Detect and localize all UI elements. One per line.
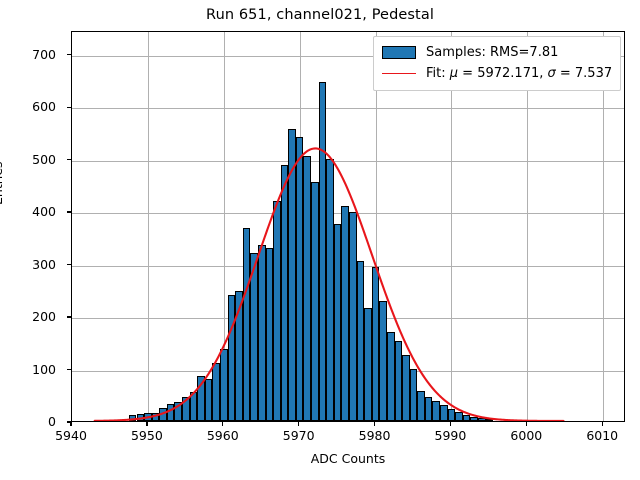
- legend-item-fit: Fit: μ = 5972.171, σ = 7.537: [382, 63, 612, 84]
- y-tick-label: 100: [0, 362, 56, 377]
- x-tick-mark: [526, 422, 527, 426]
- legend-fit-mu-symbol: μ: [450, 66, 458, 81]
- y-tick-label: 600: [0, 99, 56, 114]
- x-tick-mark: [70, 422, 71, 426]
- x-tick-mark: [374, 422, 375, 426]
- y-tick-label: 200: [0, 309, 56, 324]
- y-tick-label: 300: [0, 257, 56, 272]
- y-tick-label: 400: [0, 204, 56, 219]
- legend-fit-sigma-symbol: σ: [548, 66, 556, 81]
- x-tick-mark: [602, 422, 603, 426]
- x-tick-label: 6000: [491, 428, 561, 443]
- x-tick-label: 5940: [36, 428, 106, 443]
- x-tick-mark: [146, 422, 147, 426]
- x-tick-mark: [298, 422, 299, 426]
- x-tick-label: 6010: [567, 428, 637, 443]
- x-tick-label: 5990: [415, 428, 485, 443]
- y-tick-label: 0: [0, 414, 56, 429]
- legend-label-fit: Fit: μ = 5972.171, σ = 7.537: [426, 66, 612, 81]
- legend-label-samples: Samples: RMS=7.81: [426, 45, 558, 60]
- y-axis-label: Entries: [0, 161, 5, 205]
- y-tick-label: 700: [0, 47, 56, 62]
- chart-title: Run 651, channel021, Pedestal: [0, 7, 640, 23]
- y-tick-label: 500: [0, 152, 56, 167]
- figure-canvas: Run 651, channel021, Pedestal Entries AD…: [0, 0, 640, 480]
- x-tick-mark: [222, 422, 223, 426]
- legend-item-samples: Samples: RMS=7.81: [382, 42, 612, 63]
- x-tick-mark: [450, 422, 451, 426]
- x-axis-label: ADC Counts: [71, 451, 625, 466]
- legend-fit-sigma-value: = 7.537: [556, 66, 612, 81]
- x-tick-label: 5950: [112, 428, 182, 443]
- legend-fit-prefix: Fit:: [426, 66, 450, 81]
- legend-swatch-fit: [382, 73, 416, 74]
- legend-swatch-samples: [382, 46, 416, 59]
- legend: Samples: RMS=7.81 Fit: μ = 5972.171, σ =…: [373, 36, 621, 91]
- x-tick-label: 5960: [188, 428, 258, 443]
- x-tick-label: 5970: [264, 428, 334, 443]
- x-tick-label: 5980: [340, 428, 410, 443]
- legend-fit-mu-value: = 5972.171,: [458, 66, 547, 81]
